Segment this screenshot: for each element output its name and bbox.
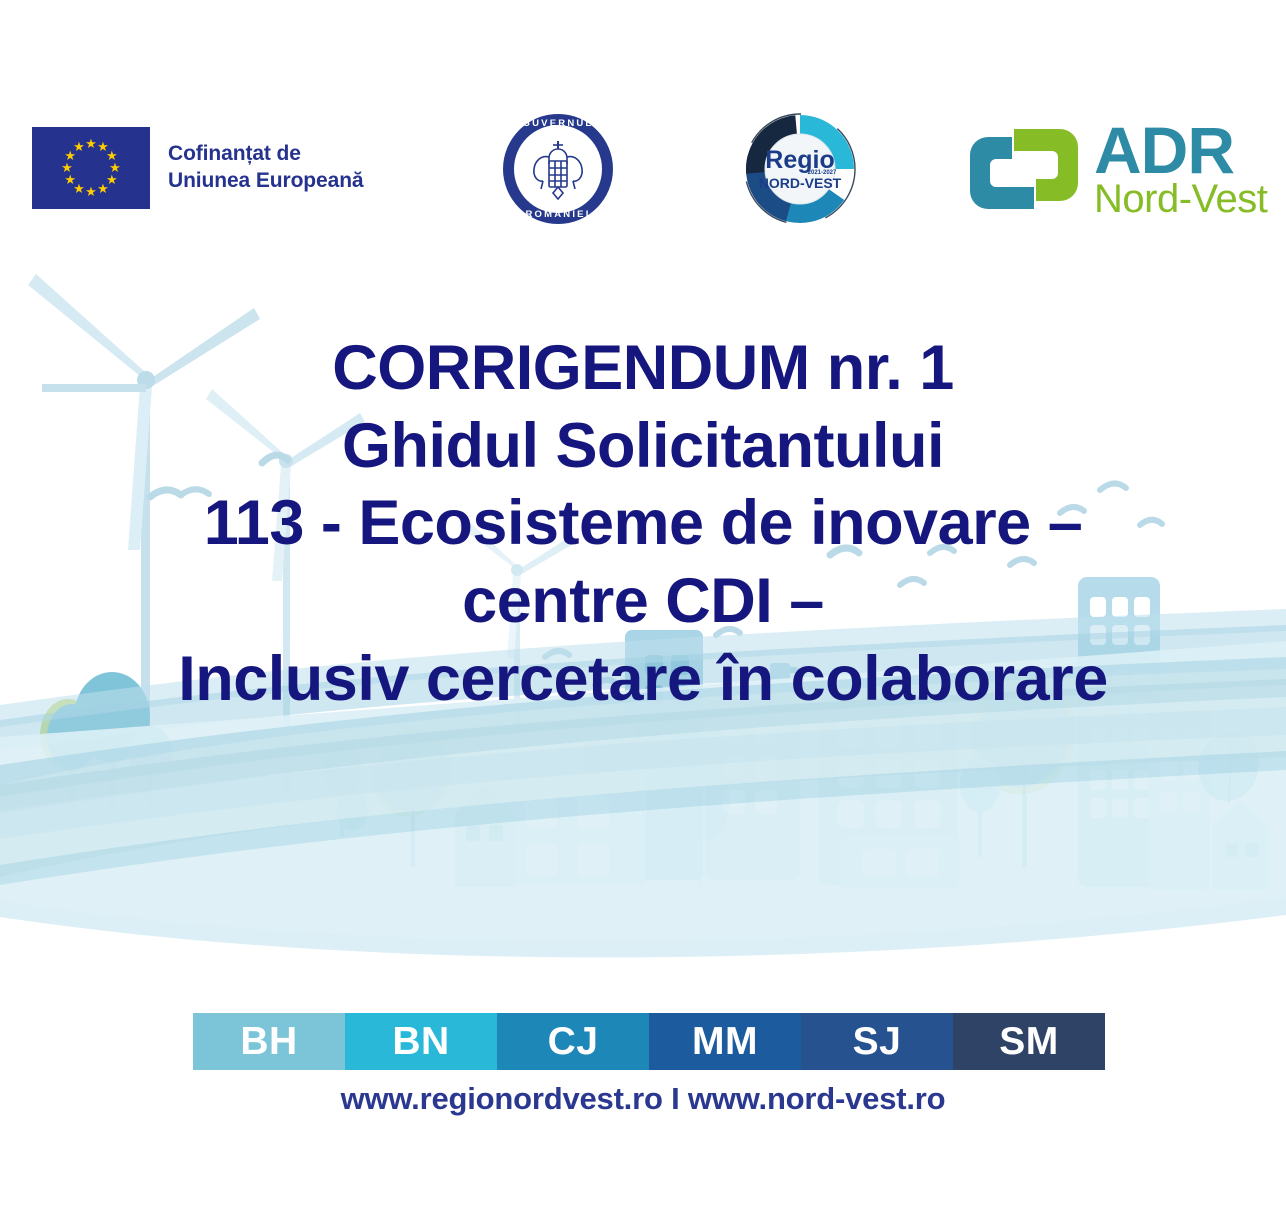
seal-text-top: GUVERNUL	[503, 118, 613, 129]
regio-region: NORD-VEST	[759, 175, 842, 191]
county-badge-sj: SJ	[801, 1013, 953, 1070]
county-badge-mm: MM	[649, 1013, 801, 1070]
county-badge-cj: CJ	[497, 1013, 649, 1070]
adr-subtitle: Nord-Vest	[1094, 181, 1267, 218]
eu-star-icon: ★	[97, 183, 109, 195]
eu-star-icon: ★	[64, 174, 76, 186]
seal-text-bottom: ROMÂNIEI	[503, 209, 613, 220]
county-badge-sm: SM	[953, 1013, 1105, 1070]
adr-title: ADR	[1094, 120, 1267, 181]
eu-logo-text: Cofinanțat de Uniunea Europeană	[168, 141, 364, 195]
eu-star-icon: ★	[61, 162, 73, 174]
eu-star-icon: ★	[73, 141, 85, 153]
guvernul-romaniei-seal-icon: GUVERNUL ROMÂNIEI	[503, 114, 613, 224]
romanian-eagle-icon	[529, 135, 587, 203]
adr-mark-icon	[968, 119, 1080, 219]
eu-cofinancing-logo: ★★★★★★★★★★★★ Cofinanțat de Uniunea Europ…	[32, 127, 364, 209]
eu-star-icon: ★	[85, 138, 97, 150]
county-badge-bar: BHBNCJMMSJSM	[193, 1013, 1105, 1070]
regio-nord-vest-logo: Regio 2021-2027 NORD-VEST	[740, 110, 860, 228]
county-badge-bh: BH	[193, 1013, 345, 1070]
county-badge-bn: BN	[345, 1013, 497, 1070]
logo-bar: ★★★★★★★★★★★★ Cofinanțat de Uniunea Europ…	[0, 0, 1286, 265]
eu-star-icon: ★	[85, 186, 97, 198]
footer-websites: www.regionordvest.ro I www.nord-vest.ro	[0, 1081, 1286, 1117]
eu-text-line2: Uniunea Europeană	[168, 168, 364, 195]
background-illustration	[0, 265, 1286, 1010]
eu-flag-icon: ★★★★★★★★★★★★	[32, 127, 150, 209]
eu-text-line1: Cofinanțat de	[168, 141, 364, 168]
adr-nord-vest-logo: ADR Nord-Vest	[968, 119, 1267, 219]
